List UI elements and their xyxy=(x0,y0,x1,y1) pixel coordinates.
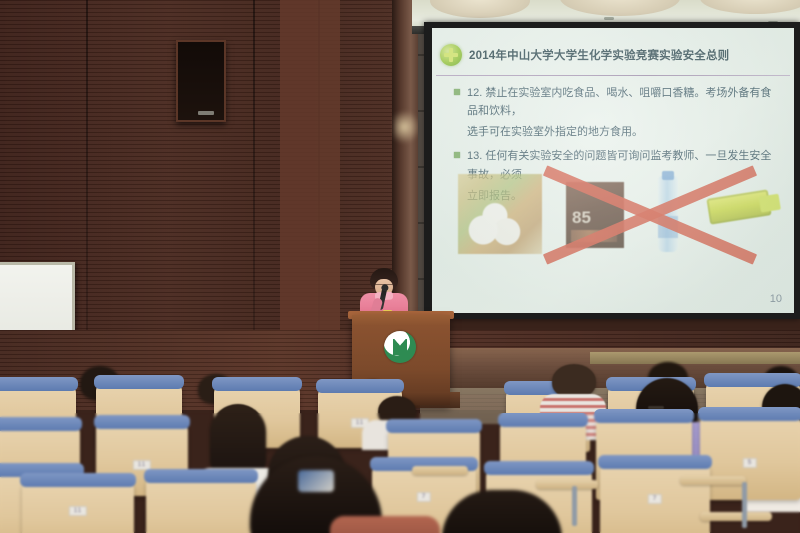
bullet-square-icon xyxy=(454,152,460,158)
seat-armrest-post xyxy=(572,486,577,526)
lecture-hall-photo: 2014年中山大学大学生化学实验竞赛实验安全总则 12. 禁止在实验室内吃食品、… xyxy=(0,0,800,533)
column-reflection xyxy=(394,110,420,144)
seat xyxy=(146,478,256,533)
wall-mounted-loudspeaker xyxy=(176,40,226,122)
speaker-logo-icon xyxy=(198,111,214,115)
hair-clip-icon xyxy=(298,470,334,492)
seat-armrest xyxy=(536,480,598,489)
seat-number: 7 xyxy=(648,494,662,504)
seat: 5 xyxy=(700,416,800,500)
bullet-number: 12. xyxy=(467,87,482,99)
attendee-shoulders xyxy=(330,516,440,533)
slide-title: 2014年中山大学大学生化学实验竞赛实验安全总则 xyxy=(469,47,729,63)
university-green-emblem xyxy=(384,331,416,363)
ceiling-sensor-icon xyxy=(604,17,614,20)
slide-header: 2014年中山大学大学生化学实验竞赛实验安全总则 xyxy=(440,36,788,74)
seat-armrest xyxy=(700,512,772,521)
slide-bullet: 12. 禁止在实验室内吃食品、喝水、咀嚼口香糖。考场外备有食品和饮料， xyxy=(454,84,780,120)
bullet-text-line2: 选手可在实验室外指定的地方食用。 xyxy=(467,123,780,141)
seat-number: 11 xyxy=(69,506,87,516)
audience-seating: 13 11 3 5 11 xyxy=(0,360,800,533)
attendee-head xyxy=(210,404,266,478)
slide-image-strip: 85 xyxy=(458,174,778,256)
green-cross-circle-logo xyxy=(440,44,462,66)
seat-number: 5 xyxy=(743,458,757,468)
seat-armrest-post xyxy=(742,482,747,528)
seat-armrest xyxy=(412,466,468,475)
bullet-number: 13. xyxy=(467,150,482,162)
wall-panel xyxy=(280,0,340,360)
seat-armrest xyxy=(680,476,746,485)
slide-page-number: 10 xyxy=(770,293,782,305)
red-x-cross-overlay xyxy=(550,168,750,262)
slide-header-divider xyxy=(436,75,790,76)
bullet-text-line1: 禁止在实验室内吃食品、喝水、咀嚼口香糖。考场外备有食品和饮料， xyxy=(467,87,771,117)
seat: 11 xyxy=(22,482,134,533)
seat: 7 xyxy=(600,464,710,533)
gum-stick xyxy=(759,194,781,213)
seat-number: 7 xyxy=(417,492,431,502)
bullet-square-icon xyxy=(454,89,460,95)
food-platter-photo xyxy=(458,174,542,254)
projection-screen: 2014年中山大学大学生化学实验竞赛实验安全总则 12. 禁止在实验室内吃食品、… xyxy=(432,28,794,313)
bullet-line: 12. 禁止在实验室内吃食品、喝水、咀嚼口香糖。考场外备有食品和饮料， xyxy=(467,84,780,120)
attendee-head xyxy=(552,364,596,398)
